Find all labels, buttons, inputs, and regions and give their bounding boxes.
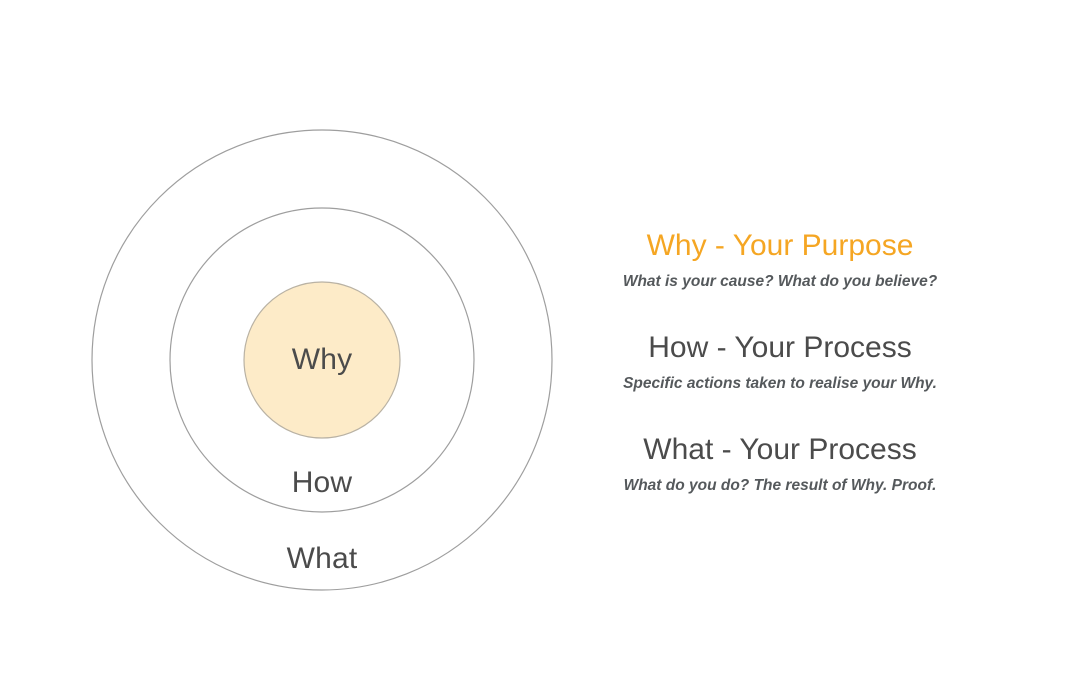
explanations-panel: Why - Your Purpose What is your cause? W… [600,228,960,496]
explanation-subtitle-what: What do you do? The result of Why. Proof… [600,477,960,496]
explanation-heading-what: What - Your Process [600,432,960,467]
explanation-heading-why: Why - Your Purpose [600,228,960,263]
explanation-block-why: Why - Your Purpose What is your cause? W… [600,228,960,292]
ring-label-what: What [0,544,644,574]
explanation-block-what: What - Your Process What do you do? The … [600,432,960,496]
explanation-subtitle-why: What is your cause? What do you believe? [600,273,960,292]
explanation-block-how: How - Your Process Specific actions take… [600,330,960,394]
ring-label-how: How [0,468,644,498]
ring-label-why: Why [0,345,644,375]
explanation-subtitle-how: Specific actions taken to realise your W… [600,375,960,394]
golden-circle-diagram: Why How What [0,0,620,672]
explanation-heading-how: How - Your Process [600,330,960,365]
